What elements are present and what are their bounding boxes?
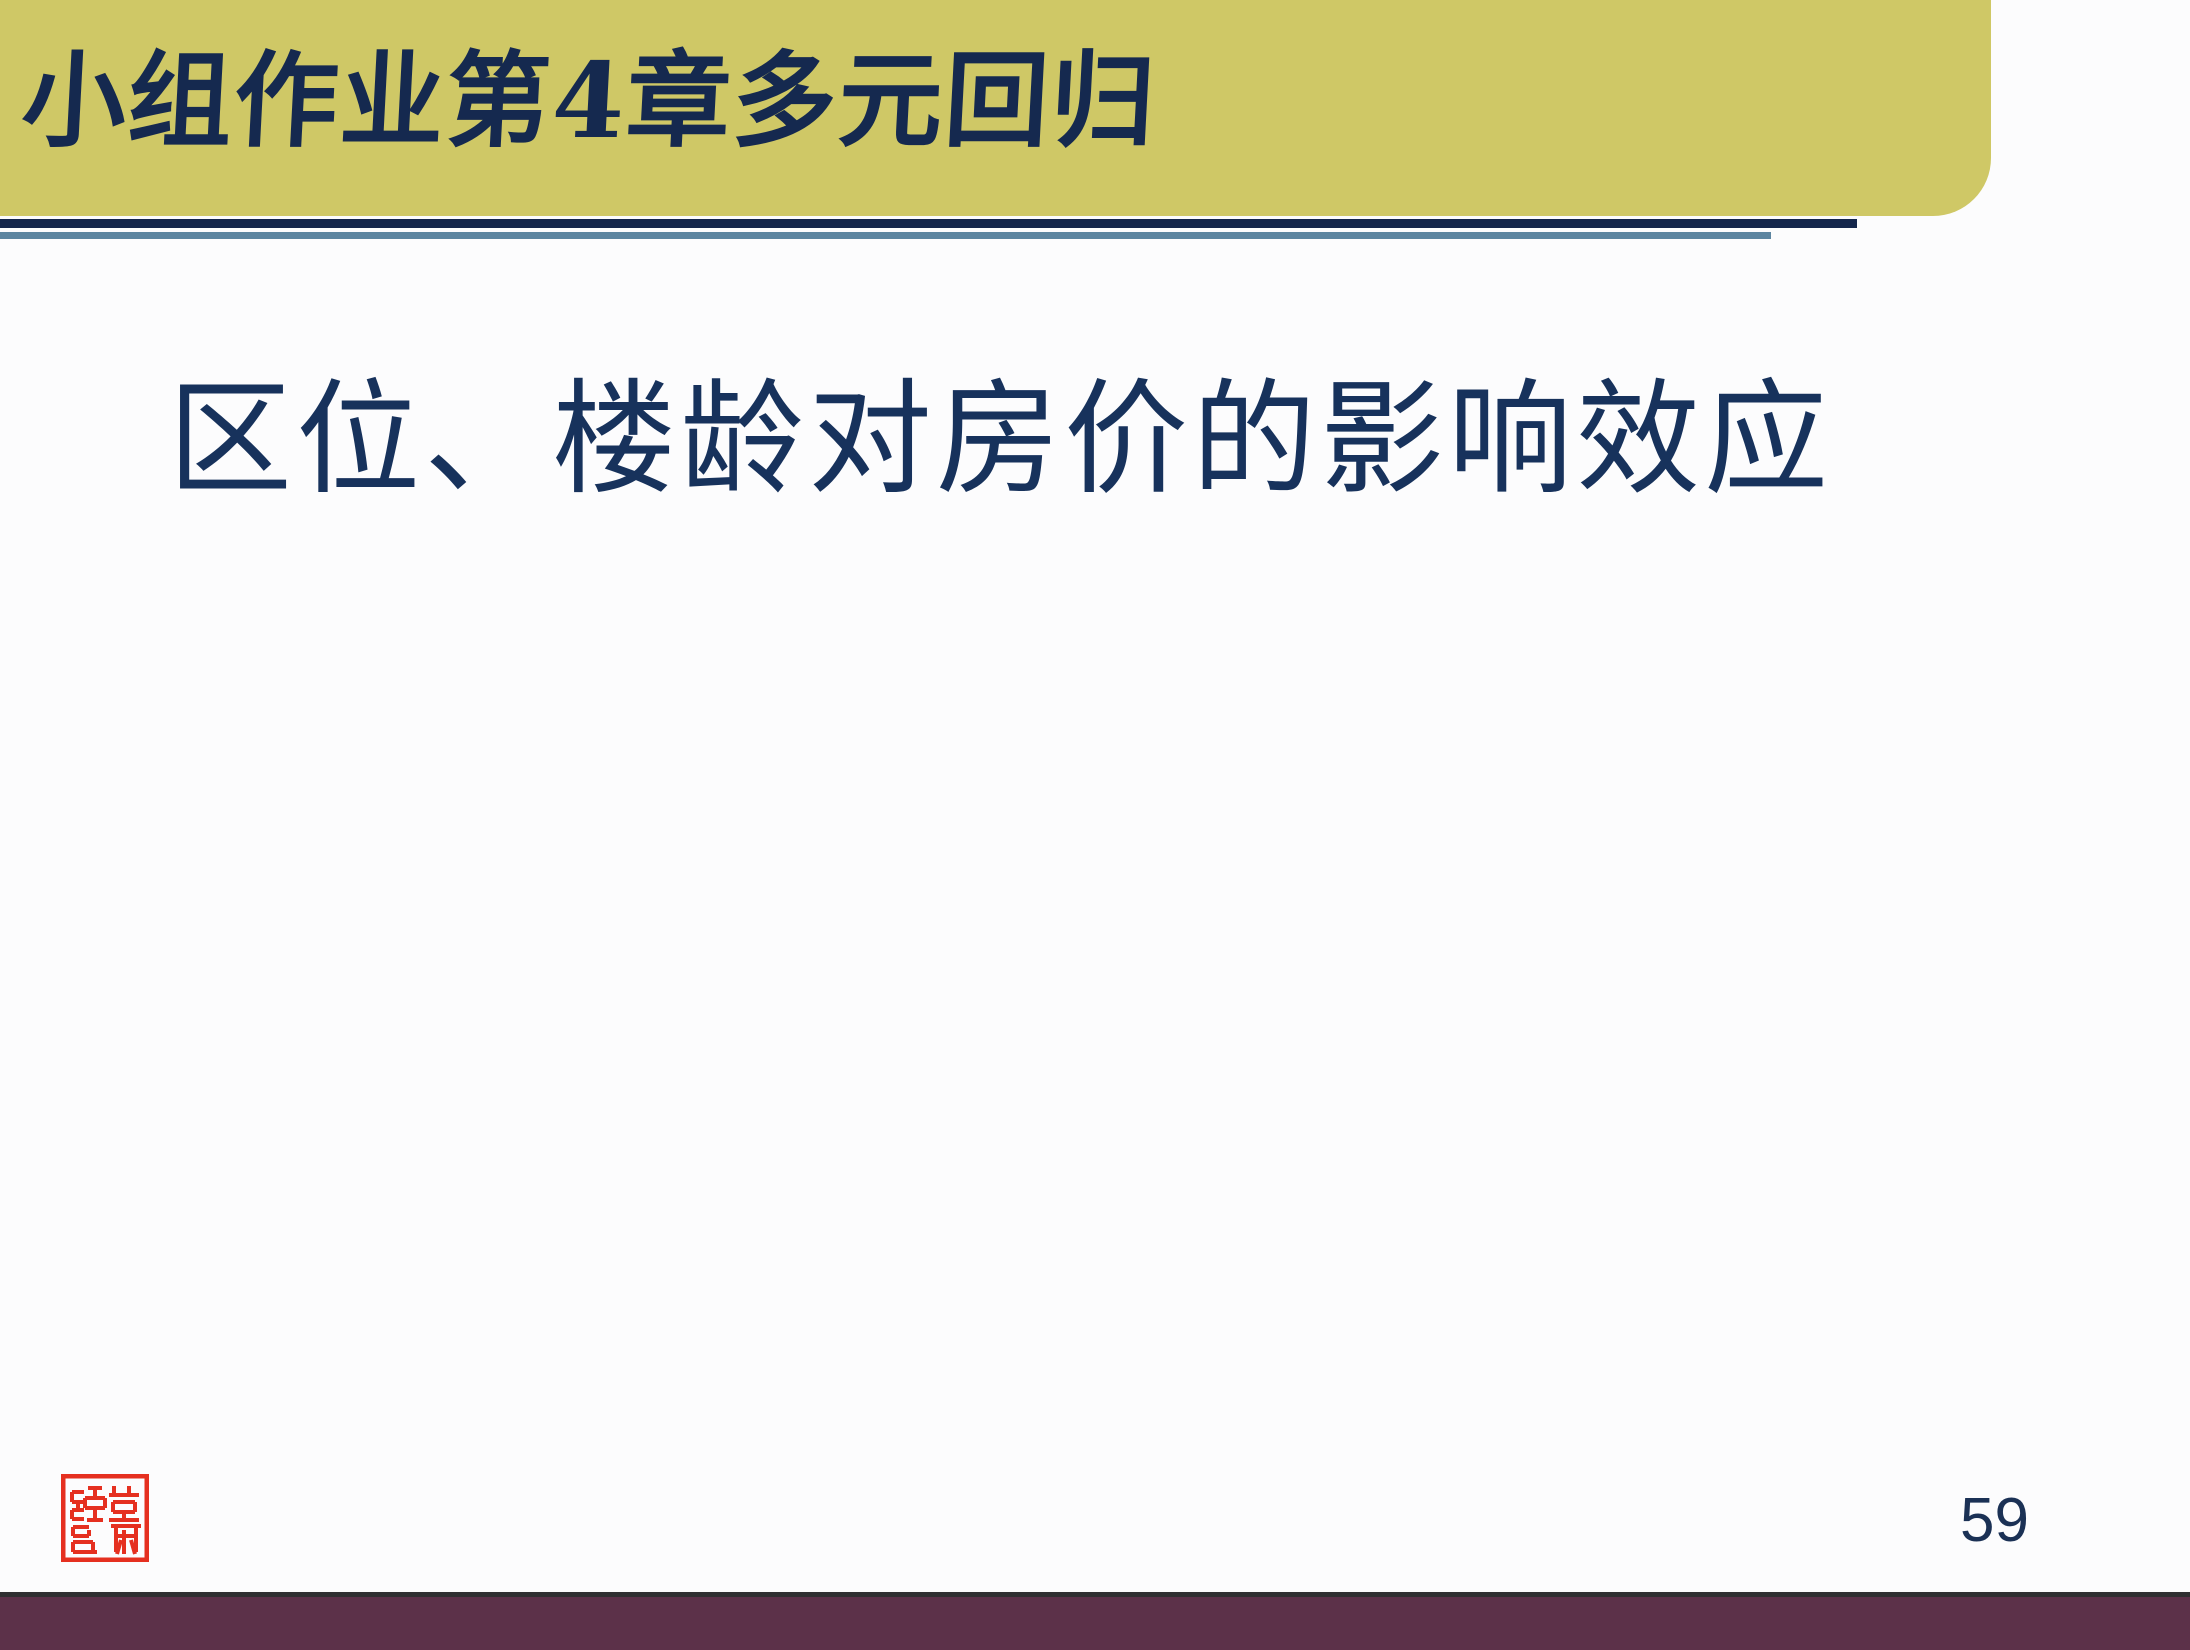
slide-header-title: 小组作业第4章多元回归 xyxy=(18,26,1926,186)
slide-main-heading: 区位、楼龄对房价的影响效应 xyxy=(168,365,2068,515)
page-number: 59 xyxy=(1960,1490,2100,1552)
header-rule-secondary xyxy=(0,232,1771,239)
red-seal-stamp-icon xyxy=(61,1474,149,1562)
header-band: 小组作业第4章多元回归 xyxy=(0,0,1991,216)
header-rule-primary xyxy=(0,219,1857,228)
footer-bar xyxy=(0,1592,2190,1650)
slide-canvas: 小组作业第4章多元回归 区位、楼龄对房价的影响效应 xyxy=(0,0,2190,1650)
slide-body: 区位、楼龄对房价的影响效应 xyxy=(0,250,2190,1430)
